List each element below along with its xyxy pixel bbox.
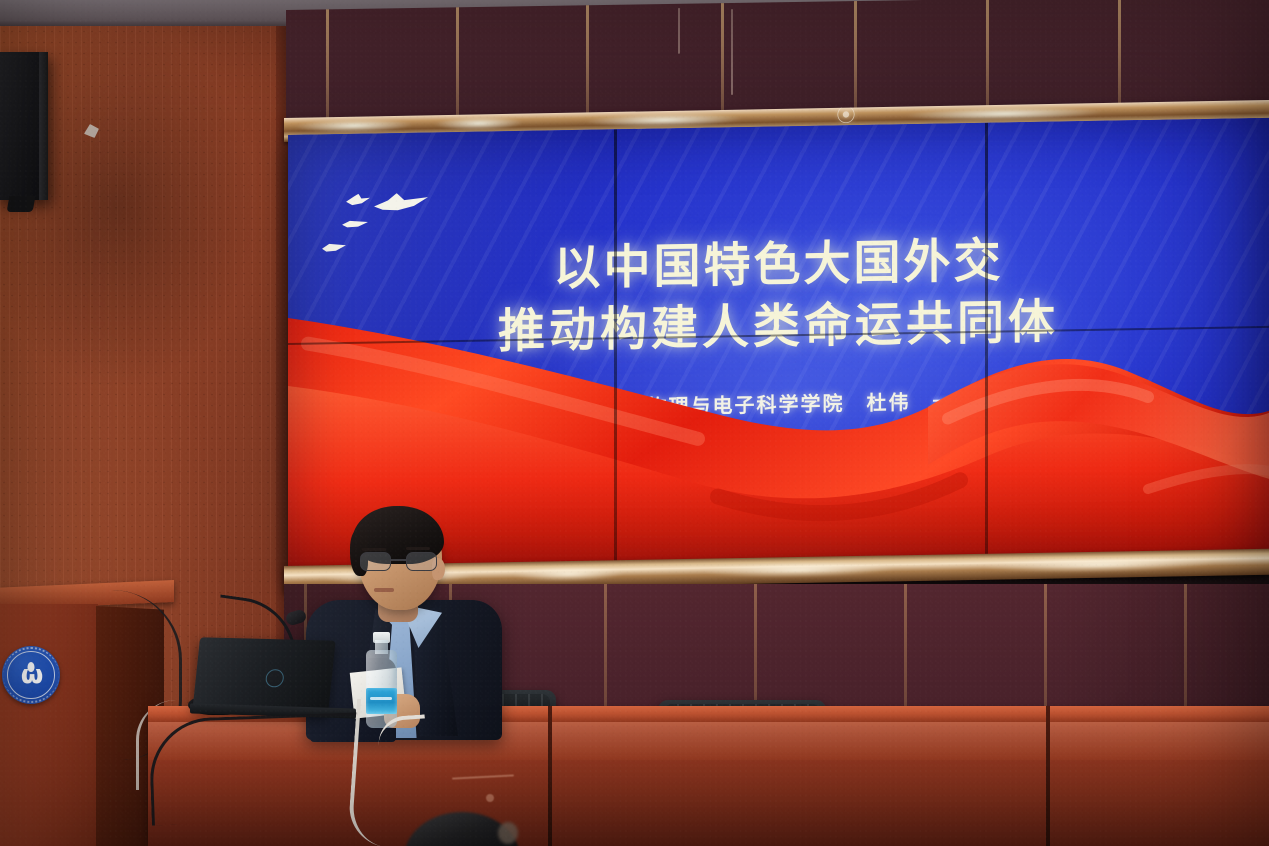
eyebrow-right <box>406 547 430 550</box>
speaker-bracket <box>7 196 36 212</box>
audience-ear <box>498 822 518 844</box>
eyeglasses-icon <box>358 552 444 572</box>
led-panel-seam-vertical <box>614 129 617 574</box>
table-seam <box>548 706 552 846</box>
trim-glint <box>904 105 1104 123</box>
dove-small-upper <box>342 220 368 229</box>
wall-speaker-icon <box>0 52 48 200</box>
trim-glint <box>584 112 744 129</box>
panel-mark <box>678 8 680 54</box>
lens-left <box>360 552 391 571</box>
trim-reflection <box>704 561 894 578</box>
speaker-grille <box>39 52 48 200</box>
dove-large <box>374 193 428 215</box>
laptop-logo-icon <box>265 669 285 687</box>
presenter <box>300 508 510 738</box>
podium <box>0 604 98 846</box>
trim-reflection <box>514 566 624 582</box>
lecture-hall-scene: ⦿ 以中国特色大国外交 推动构建人类命运共同体 物理与电 <box>0 0 1269 846</box>
trim-glint <box>294 118 414 134</box>
table-mark <box>486 794 494 802</box>
lens-right <box>406 552 437 571</box>
panel-mark <box>731 9 733 95</box>
trim-glint <box>434 116 524 132</box>
wall-blemish <box>84 124 99 138</box>
dove-medium <box>346 194 370 208</box>
emblem-mark: ω <box>21 662 42 688</box>
university-emblem-icon: ω <box>2 646 60 704</box>
presenter-mouth <box>374 588 394 592</box>
power-cable-black <box>148 712 362 825</box>
table-seam <box>1046 706 1050 846</box>
led-panel-seam-vertical <box>985 123 988 568</box>
glasses-bridge <box>391 559 406 561</box>
trim-reflection <box>984 556 1214 574</box>
eyebrow-left <box>362 548 386 551</box>
